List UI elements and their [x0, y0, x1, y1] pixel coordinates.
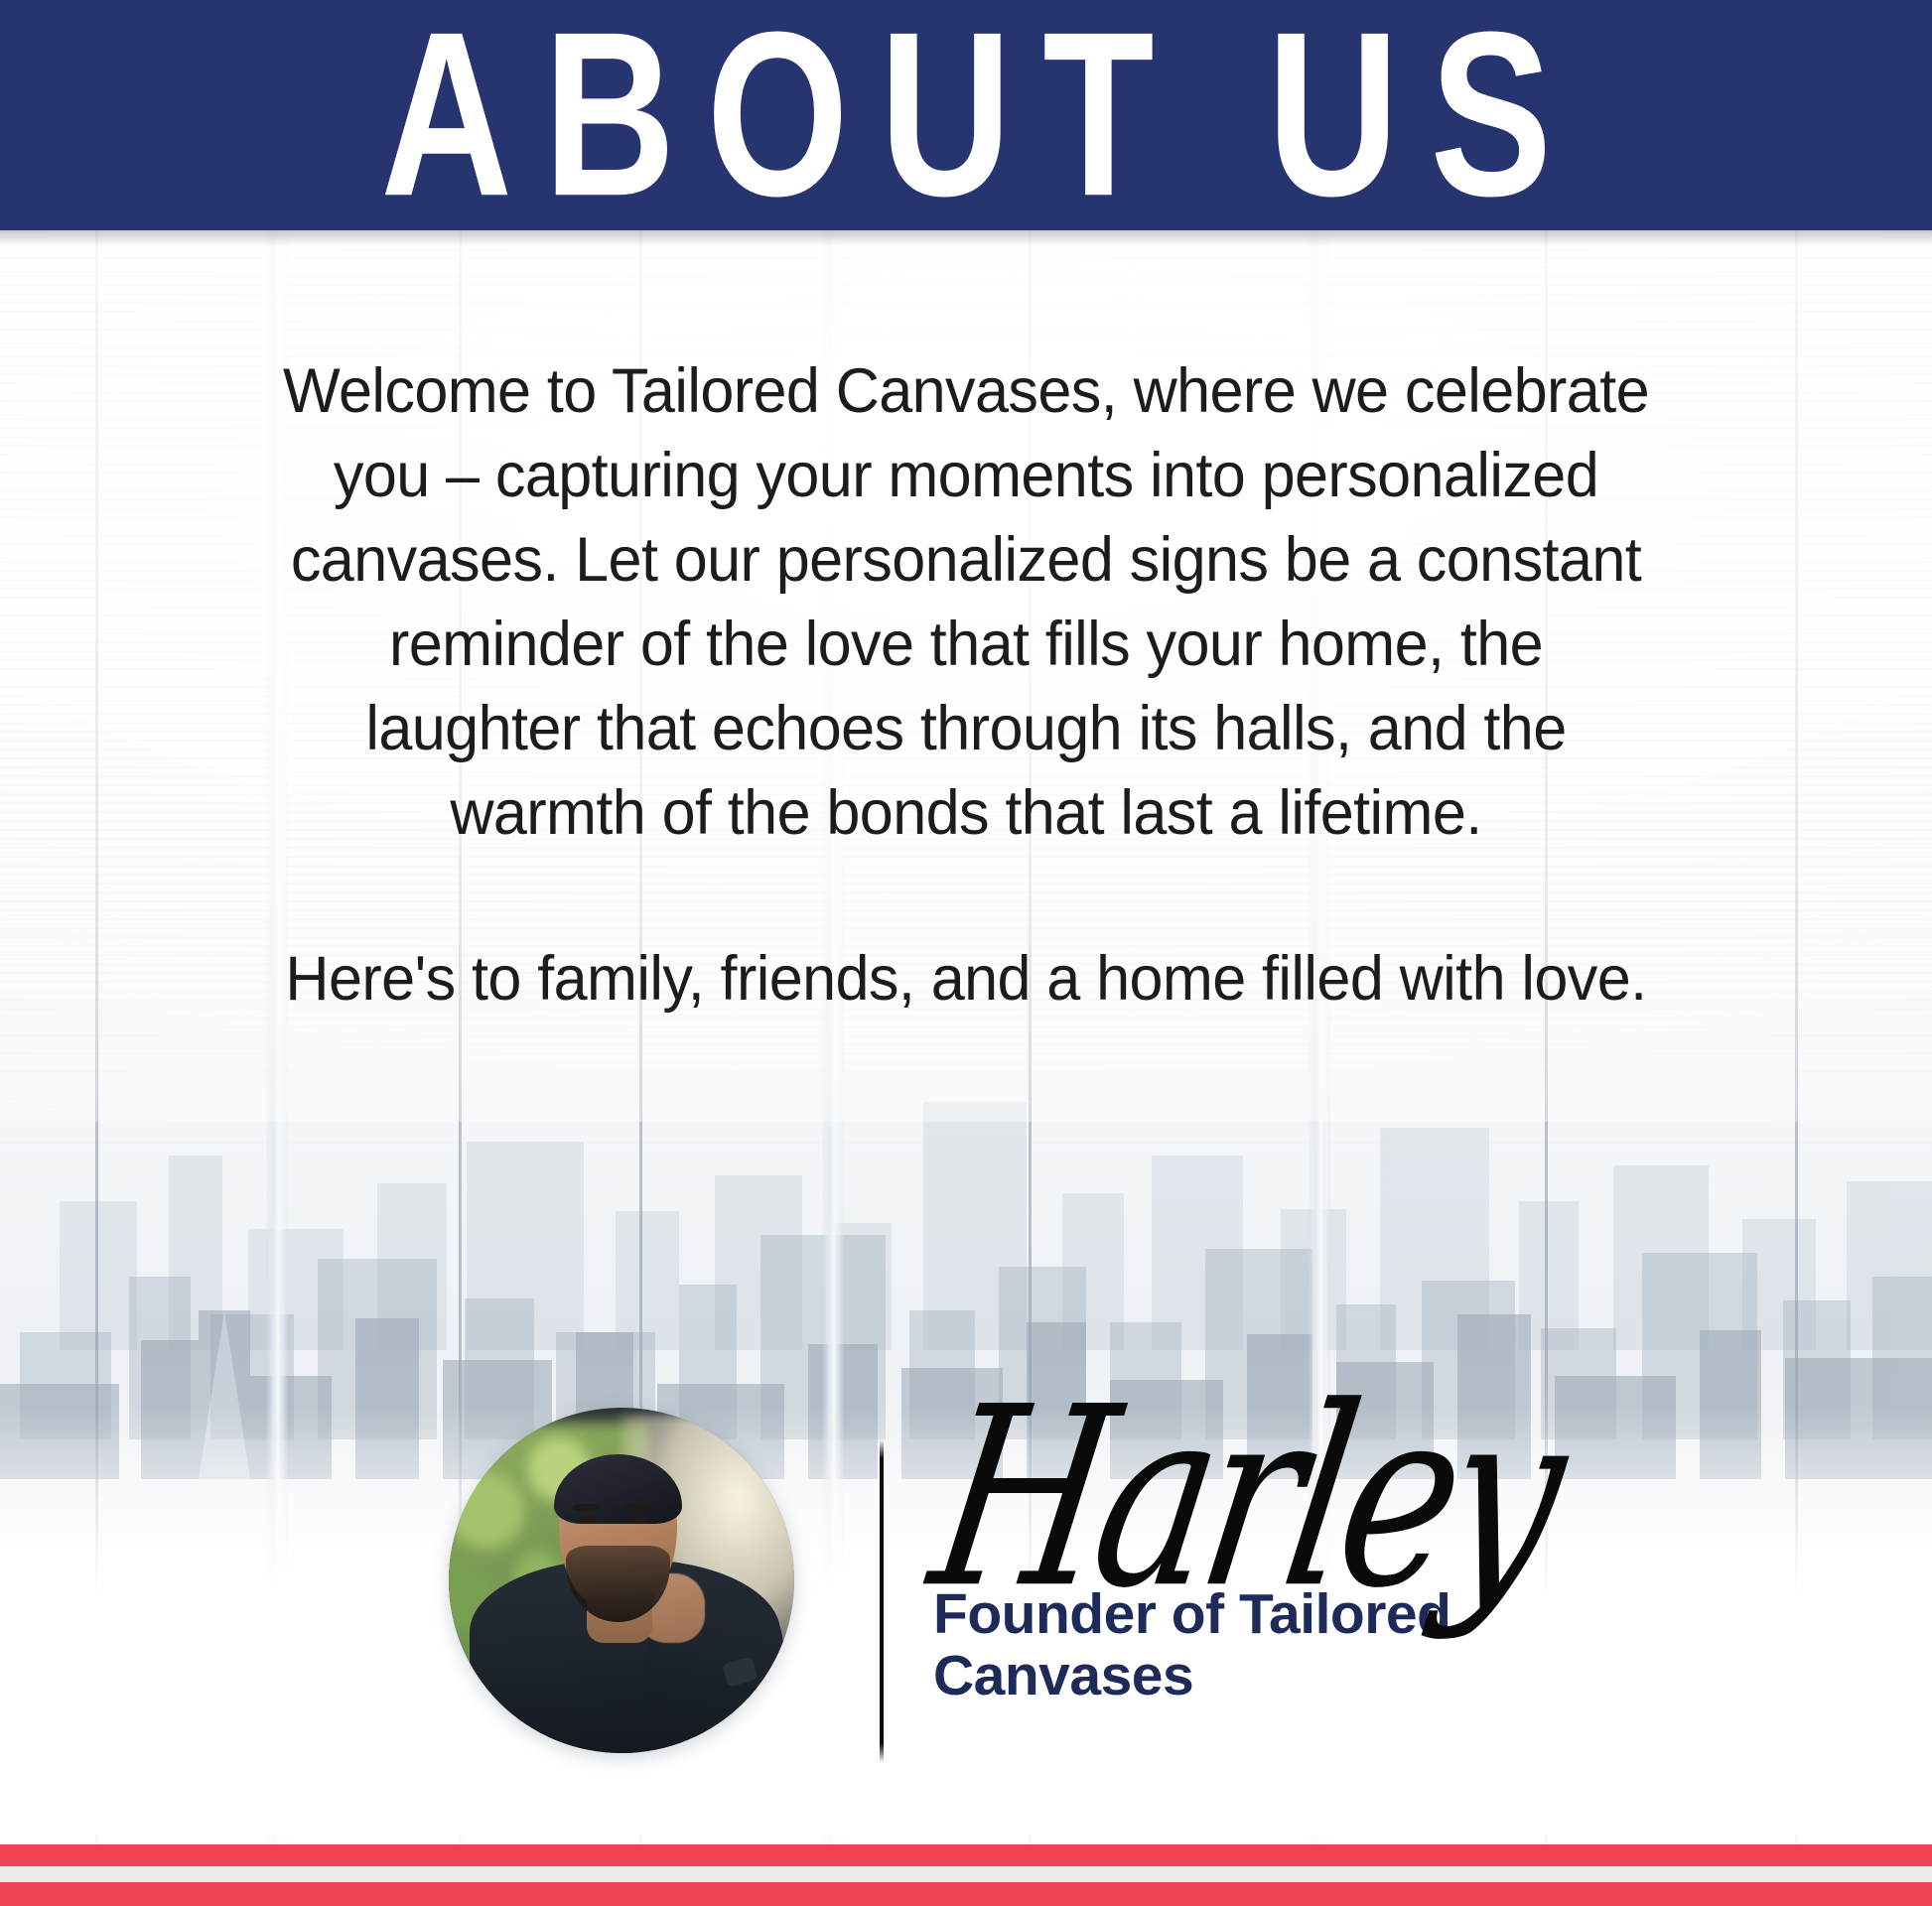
footer-bars — [0, 1844, 1932, 1906]
footer-bar-gap — [0, 1866, 1932, 1882]
about-paragraph-2: Here's to family, friends, and a home fi… — [282, 937, 1649, 1021]
header-bar: ABOUT US — [0, 0, 1932, 230]
signature-divider-line — [880, 1439, 884, 1763]
footer-accent-bar-top — [0, 1844, 1932, 1866]
page-title: ABOUT US — [349, 0, 1583, 232]
portrait-eyebrow — [624, 1504, 652, 1510]
about-paragraph-1: Welcome to Tailored Canvases, where we c… — [282, 349, 1649, 856]
footer-accent-bar-bottom — [0, 1882, 1932, 1906]
founder-portrait-photo — [449, 1408, 794, 1753]
signature-text-block: Harley Founder of Tailored Canvases — [933, 1398, 1628, 1706]
portrait-eye — [628, 1515, 646, 1524]
signature-row: Harley Founder of Tailored Canvases — [0, 1398, 1932, 1795]
signature-name: Harley — [919, 1375, 1620, 1623]
about-us-poster: ABOUT US Welcome to Tailored Canvases, w… — [0, 0, 1932, 1906]
portrait-eyebrow — [573, 1504, 601, 1510]
portrait-eye — [579, 1515, 597, 1524]
header-drop-shadow — [0, 230, 1932, 246]
avatar — [449, 1408, 794, 1753]
about-copy-block: Welcome to Tailored Canvases, where we c… — [261, 349, 1671, 1021]
